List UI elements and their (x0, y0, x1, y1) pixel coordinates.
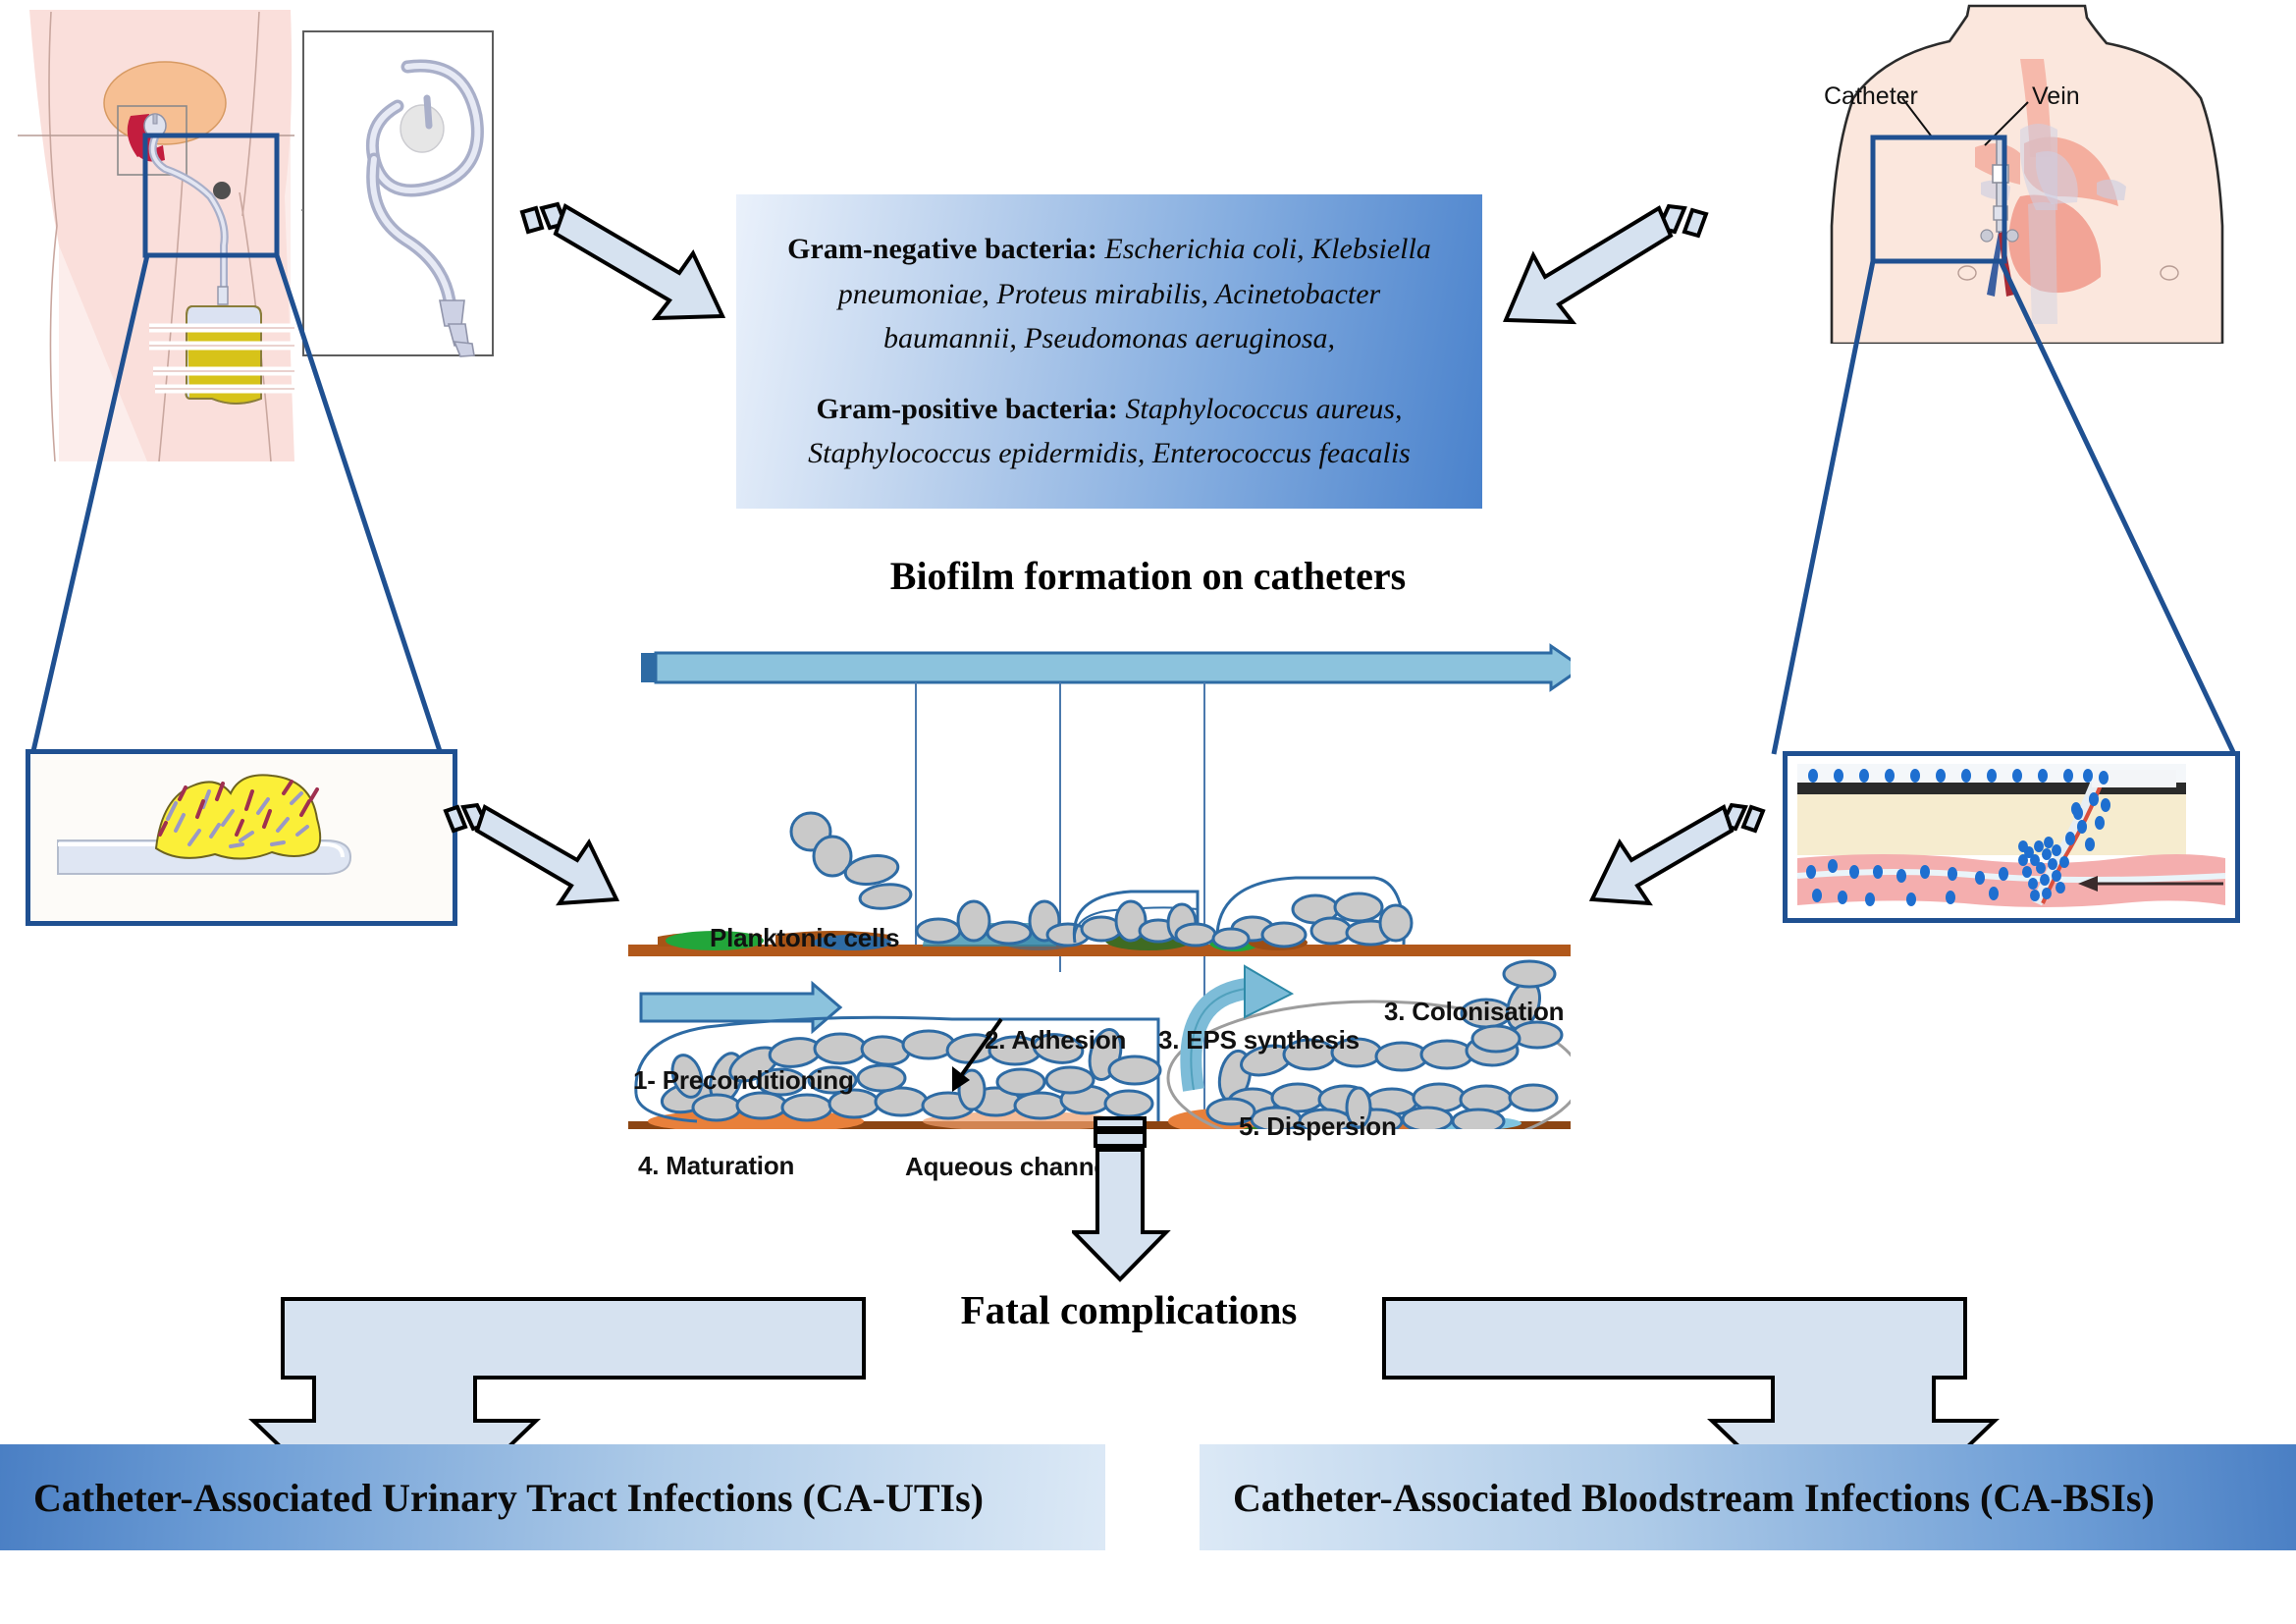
biofilm-on-catheter-inset (26, 749, 457, 926)
catheter-label: Catheter (1824, 82, 1918, 110)
stage-label-maturation: 4. Maturation (638, 1151, 794, 1181)
biofilm-timeline-arrow (641, 646, 1571, 689)
outcome-label-ca-bsi: Catheter-Associated Bloodstream Infectio… (1233, 1475, 2155, 1521)
gram-positive-line: Gram-positive bacteria: Staphylococcus a… (770, 387, 1449, 476)
left-callout-lines (0, 250, 491, 761)
right-callout-lines (1747, 253, 2296, 764)
gram-negative-line: Gram-negative bacteria: Escherichia coli… (770, 227, 1449, 361)
colonisation-cells (1213, 878, 1412, 948)
figure-canvas: Catheter Vein (0, 0, 2296, 1624)
biofilm-on-catheter-drawing (30, 754, 453, 921)
arrow-vessel-inset-to-stages (1571, 797, 1777, 925)
vessel-bacteria-inset (1783, 751, 2240, 923)
bacteria-info-box: Gram-negative bacteria: Escherichia coli… (736, 194, 1482, 509)
outcome-label-ca-uti: Catheter-Associated Urinary Tract Infect… (33, 1475, 984, 1521)
fatal-complications-label: Fatal complications (923, 1286, 1335, 1333)
spacer (770, 361, 1449, 387)
biofilm-section-title: Biofilm formation on catheters (0, 553, 2296, 599)
stage-label-eps-synthesis: 3. EPS synthesis (1158, 1025, 1360, 1056)
arrow-biofilm-inset-to-stages (434, 797, 640, 925)
planktonic-cells (791, 813, 912, 911)
arrow-right-to-bacteria (1484, 196, 1730, 346)
arrow-to-ca-uti-banner (177, 1272, 883, 1448)
stage-label-preconditioning: 1- Preconditioning (633, 1065, 854, 1096)
vessel-bacteria-drawing (1788, 756, 2235, 918)
outcome-banner-ca-bsi: Catheter-Associated Bloodstream Infectio… (1200, 1444, 2296, 1550)
arrow-left-to-bacteria (510, 194, 746, 342)
gram-negative-label: Gram-negative bacteria: (787, 233, 1097, 265)
stage-label-planktonic: Planktonic cells (710, 923, 899, 953)
gram-positive-label: Gram-positive bacteria: (816, 393, 1117, 425)
adhesion-cells (917, 901, 1089, 947)
arrow-to-ca-bsi-banner (1364, 1272, 2071, 1448)
vein-label: Vein (2032, 82, 2080, 110)
stage-label-adhesion: 2. Adhesion (985, 1025, 1126, 1056)
stage-label-dispersion: 5. Dispersion (1239, 1111, 1397, 1142)
outcome-banner-ca-uti: Catheter-Associated Urinary Tract Infect… (0, 1444, 1105, 1550)
stage-label-colonisation: 3. Colonisation (1384, 997, 1564, 1027)
arrow-to-fatal-complications (1072, 1114, 1190, 1291)
eps-synthesis-cells (1074, 892, 1215, 946)
biofilm-stage-diagram (628, 638, 1571, 1129)
